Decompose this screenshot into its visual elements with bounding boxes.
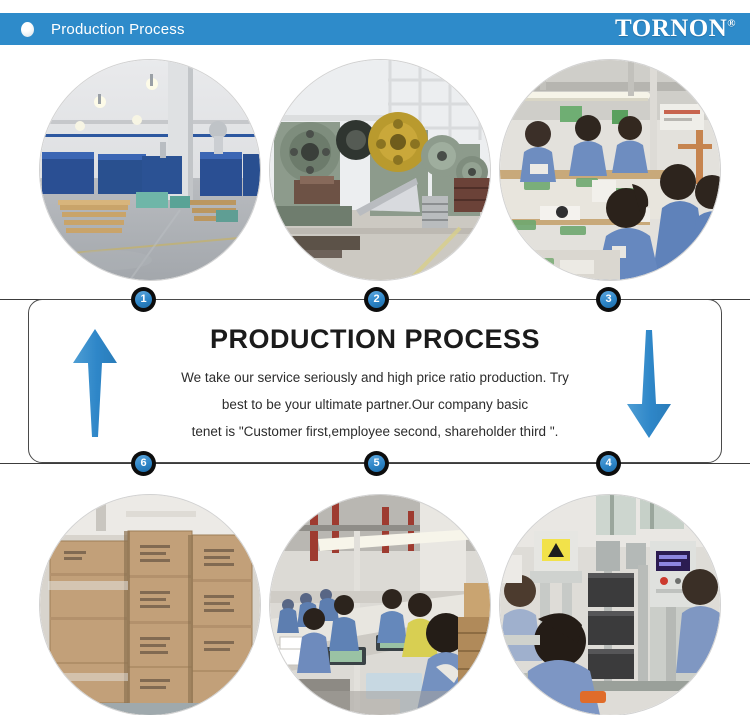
- step-badge-1[interactable]: 1: [131, 287, 156, 312]
- brand-name: TORNON: [615, 15, 727, 42]
- step-badge-6[interactable]: 6: [131, 451, 156, 476]
- description-line-2: best to be your ultimate partner.Our com…: [29, 391, 721, 418]
- photo-assembly-bench: [500, 60, 720, 280]
- step-badge-number: 6: [135, 455, 152, 472]
- step-badge-4[interactable]: 4: [596, 451, 621, 476]
- box-heading: PRODUCTION PROCESS: [29, 324, 721, 355]
- production-process-page: Production Process TORNON®: [0, 0, 750, 715]
- step-badge-2[interactable]: 2: [364, 287, 389, 312]
- box-description: We take our service seriously and high p…: [29, 364, 721, 445]
- registered-mark-icon: ®: [727, 18, 736, 30]
- page-header: Production Process TORNON®: [0, 13, 750, 45]
- description-line-3: tenet is "Customer first,employee second…: [29, 418, 721, 445]
- description-line-1: We take our service seriously and high p…: [29, 364, 721, 391]
- page-title: Production Process: [51, 21, 185, 38]
- circle-bullet-icon: [21, 22, 34, 37]
- photo-injection-molding-workshop: [40, 60, 260, 280]
- step-badge-number: 3: [600, 291, 617, 308]
- step-badge-3[interactable]: 3: [596, 287, 621, 312]
- step-badge-number: 5: [368, 455, 385, 472]
- photo-row-bottom: [0, 495, 750, 715]
- step-badge-5[interactable]: 5: [364, 451, 389, 476]
- brand-logo: TORNON®: [615, 15, 736, 43]
- process-description-box: PRODUCTION PROCESS We take our service s…: [28, 299, 722, 463]
- photo-production-line: [270, 495, 490, 715]
- step-badge-number: 1: [135, 291, 152, 308]
- photo-carton-warehouse: [40, 495, 260, 715]
- photo-punch-press-workshop: [270, 60, 490, 280]
- step-badge-number: 2: [368, 291, 385, 308]
- step-badge-number: 4: [600, 455, 617, 472]
- photo-testing-equipment: [500, 495, 720, 715]
- photo-row-top: [0, 60, 750, 280]
